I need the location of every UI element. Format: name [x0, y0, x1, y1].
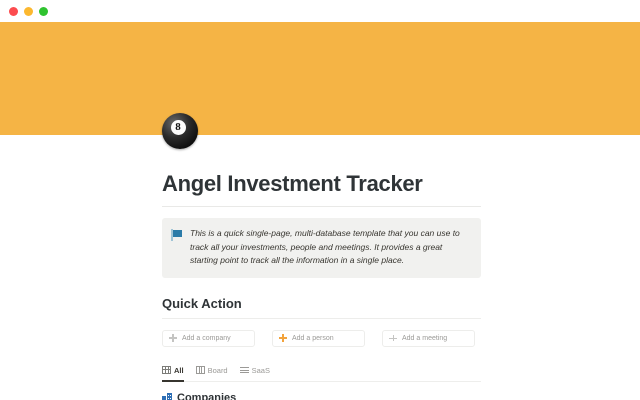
title-divider — [162, 206, 481, 207]
plus-icon — [169, 334, 177, 342]
eight-ball-number: 8 — [171, 120, 186, 135]
tab-saas[interactable]: SaaS — [240, 366, 270, 378]
blue-flag-icon — [171, 229, 183, 241]
page-body: 8 Angel Investment Tracker This is a qui… — [0, 135, 640, 400]
add-a-meeting-label: Add a meeting — [402, 335, 447, 342]
plus-icon — [389, 334, 397, 342]
database-view-tabs: All Board SaaS — [162, 366, 481, 382]
tab-board[interactable]: Board — [196, 366, 228, 378]
tab-board-label: Board — [208, 366, 228, 375]
add-a-company-label: Add a company — [182, 335, 231, 342]
eight-ball-icon[interactable]: 8 — [162, 113, 198, 149]
quick-action-buttons: Add a company Add a person Add a meeting — [162, 330, 630, 347]
database-title: Companies — [177, 392, 236, 400]
tab-saas-label: SaaS — [252, 366, 270, 375]
close-window-button[interactable] — [9, 7, 18, 16]
building-icon — [162, 393, 172, 400]
maximize-window-button[interactable] — [39, 7, 48, 16]
callout-text: This is a quick single-page, multi-datab… — [190, 227, 471, 268]
list-view-icon — [240, 366, 249, 374]
table-view-icon — [162, 366, 171, 374]
tab-all[interactable]: All — [162, 366, 184, 378]
add-a-person-label: Add a person — [292, 335, 334, 342]
database-header[interactable]: Companies — [162, 392, 630, 400]
add-a-company-button[interactable]: Add a company — [162, 330, 255, 347]
quick-action-heading: Quick Action — [162, 296, 630, 311]
window-titlebar — [0, 0, 640, 22]
page-cover-image[interactable] — [0, 22, 640, 135]
tab-all-label: All — [174, 366, 184, 375]
callout-block[interactable]: This is a quick single-page, multi-datab… — [162, 218, 481, 278]
add-a-meeting-button[interactable]: Add a meeting — [382, 330, 475, 347]
page-title[interactable]: Angel Investment Tracker — [162, 135, 630, 197]
quick-action-divider — [162, 318, 481, 319]
add-a-person-button[interactable]: Add a person — [272, 330, 365, 347]
plus-icon — [279, 334, 287, 342]
minimize-window-button[interactable] — [24, 7, 33, 16]
board-view-icon — [196, 366, 205, 374]
